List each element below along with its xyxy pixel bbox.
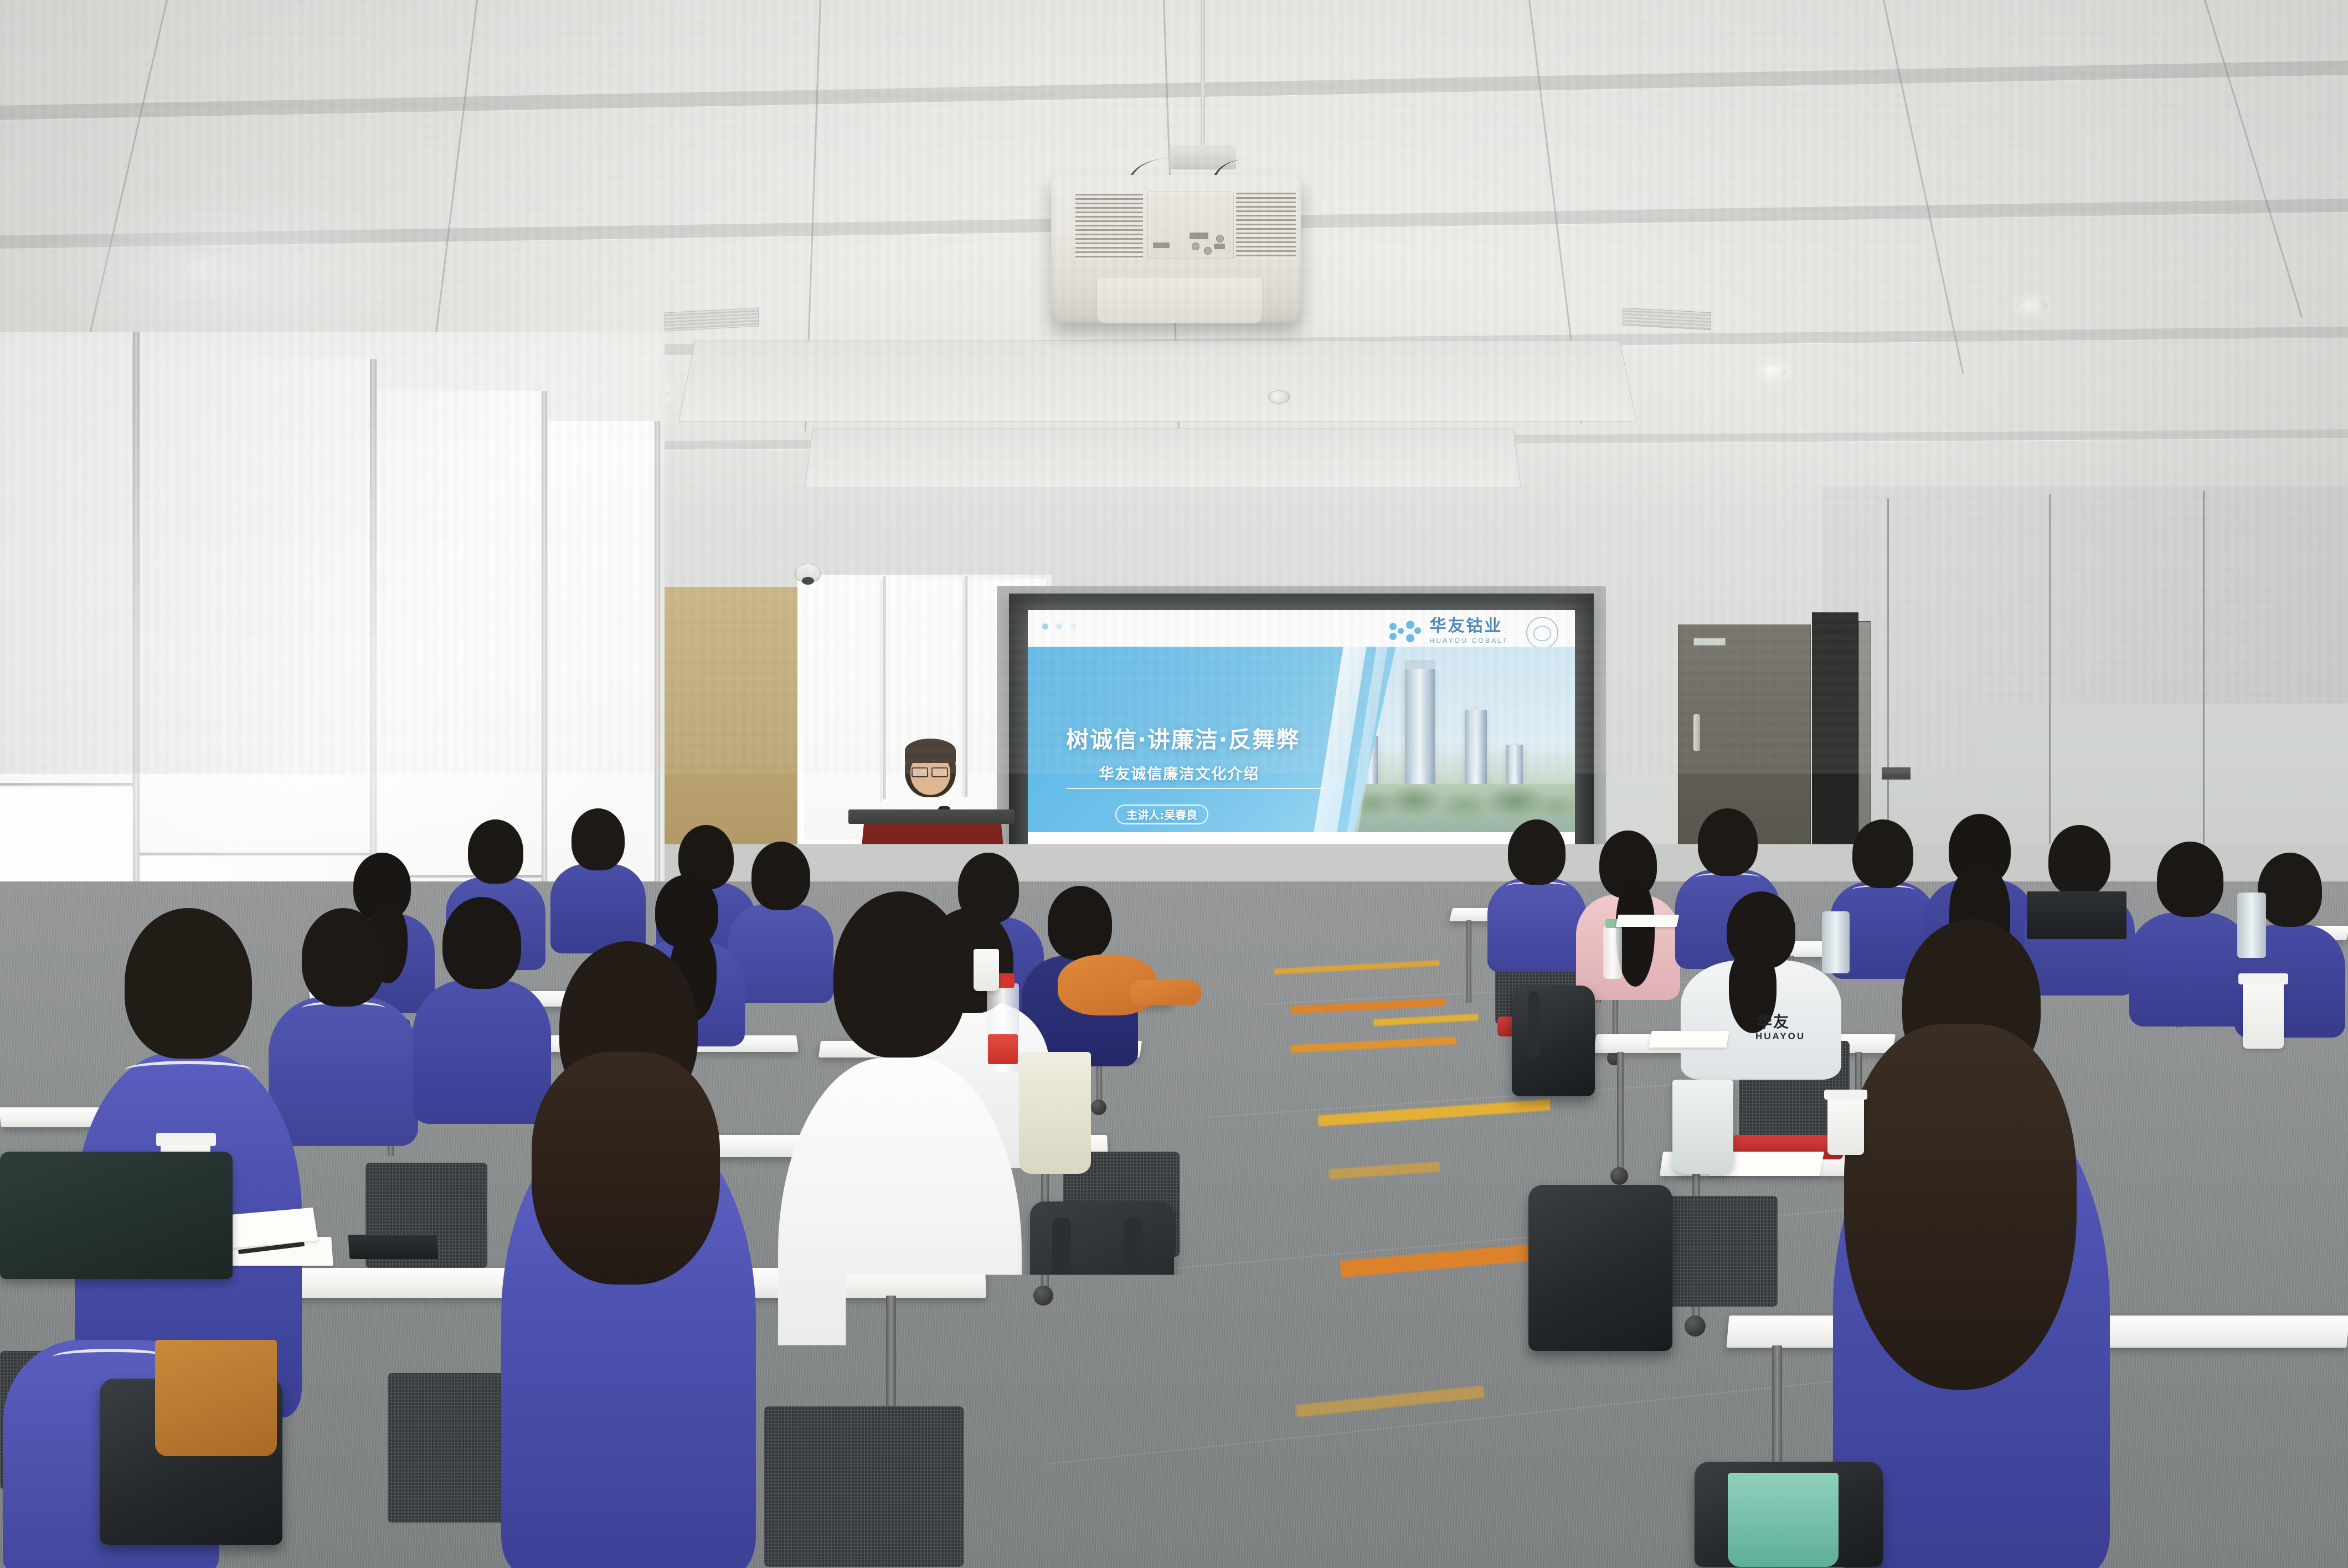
backpack[interactable]: [1512, 986, 1595, 1096]
travel-tumbler[interactable]: [1822, 911, 1850, 973]
plush-toy-limb: [1130, 980, 1202, 1005]
table-leg: [1466, 920, 1471, 1003]
attendee-head: [1852, 819, 1913, 888]
backpack-strap: [1124, 1218, 1143, 1356]
handbag[interactable]: [155, 1340, 277, 1456]
backpack[interactable]: [1030, 1201, 1174, 1423]
notebook[interactable]: [292, 1092, 383, 1106]
roller-blind: [377, 391, 543, 878]
door-handle[interactable]: [1693, 714, 1700, 751]
attendee-hair-long: [532, 1052, 720, 1285]
badge-face-icon: [1533, 626, 1551, 641]
table-caster: [1091, 1100, 1106, 1115]
logo-text-english: HUAYOU COBALT: [1429, 637, 1508, 644]
tote-bag[interactable]: [1019, 1052, 1091, 1174]
bottle-label: [988, 1034, 1018, 1064]
building-tower-cap: [1405, 660, 1435, 669]
paper-cup[interactable]: [974, 949, 999, 991]
backpack[interactable]: [797, 1462, 964, 1568]
paper-cup[interactable]: [1827, 1095, 1864, 1155]
building-tower: [1506, 745, 1523, 784]
jacket-on-table[interactable]: [0, 1152, 233, 1279]
presenter-glasses: [912, 767, 928, 777]
laptop[interactable]: [2027, 891, 2126, 939]
projector-rca-jack: [1216, 235, 1224, 243]
roller-blind: [0, 334, 133, 788]
attendee-head: [2157, 842, 2223, 917]
attendee-torso: [1487, 878, 1586, 972]
slide-divider-rule: [1066, 788, 1323, 789]
cup-lid: [2238, 973, 2288, 984]
slide-speaker-badge: 主讲人:吴春良: [1115, 804, 1208, 824]
projector-lan-port: [1214, 244, 1225, 249]
slide-subtitle: 华友诚信廉洁文化介绍: [1099, 762, 1259, 783]
attendee-head: [2048, 825, 2110, 896]
ceiling-recess: [678, 341, 1636, 422]
collar-piping: [53, 1349, 169, 1365]
projector-vga-port: [1190, 233, 1208, 239]
backpack-strap: [1528, 991, 1539, 1058]
ceiling-recess: [805, 428, 1521, 488]
door-sign: [1693, 638, 1726, 646]
ceiling-downlight: [183, 260, 224, 277]
uniform-back-print-english: HUAYOU: [1755, 1031, 1805, 1042]
attendee-foreground-left: [498, 941, 759, 1567]
slide-body: 树诚信·讲廉洁·反舞弊 华友诚信廉洁文化介绍 主讲人:吴春良: [1028, 647, 1575, 832]
attendee-head: [571, 808, 625, 870]
projector-mount-rod: [1201, 0, 1205, 148]
building-tower: [1465, 710, 1487, 784]
slide-header-dots: [1042, 623, 1076, 630]
uniform-back-print-chinese: 华友: [1757, 1010, 1790, 1032]
handbag[interactable]: [1728, 1473, 1839, 1567]
attendee-head: [1698, 808, 1758, 876]
projector-lens-housing: [1096, 277, 1263, 323]
table-leg: [1617, 1052, 1624, 1174]
travel-tumbler[interactable]: [2237, 893, 2266, 958]
cup-lid: [156, 1133, 216, 1146]
attendee-head: [125, 908, 252, 1059]
backpack-strap: [1052, 1218, 1071, 1356]
attendee-torso-white-shirt: [778, 1058, 1022, 1500]
water-bottle[interactable]: [1603, 926, 1622, 979]
ceiling-downlight: [2016, 299, 2048, 312]
attendee-head: [1048, 886, 1112, 960]
tablet-device[interactable]: [348, 1235, 438, 1259]
projector-vent-grille: [1236, 193, 1296, 259]
presenter-hair: [905, 739, 956, 763]
presenter-glasses: [931, 767, 948, 777]
slide-dot: [1070, 623, 1076, 630]
projector-hdmi-port: [1153, 243, 1170, 248]
building-tower: [1405, 669, 1435, 784]
backpack[interactable]: [1528, 1185, 1672, 1351]
attendee-hair-long: [1844, 1024, 2077, 1390]
table-caster: [1685, 1316, 1706, 1337]
slide-dot: [1042, 623, 1048, 630]
collar-piping: [125, 1061, 252, 1080]
projector-vent-grille: [1075, 194, 1143, 260]
huayou-logo-mark: [1389, 620, 1422, 643]
integrity-badge: [1526, 617, 1558, 649]
slide-main-title: 树诚信·讲廉洁·反舞弊: [1066, 721, 1300, 754]
attendee: [1573, 831, 1683, 997]
blind-bottom-bar: [0, 783, 133, 786]
handbag[interactable]: [1672, 1080, 1733, 1174]
logo-text-chinese: 华友钴业: [1429, 618, 1508, 635]
security-camera-lens: [802, 577, 814, 585]
company-logo: 华友钴业 HUAYOU COBALT: [1389, 618, 1508, 644]
roller-blind: [138, 359, 371, 857]
seminar-room-photo: Panasonic: [0, 0, 2348, 1568]
projector-rca-jack: [1192, 243, 1199, 250]
attendee-head: [1508, 819, 1566, 885]
projector-rca-jack: [1204, 247, 1212, 255]
attendee-head: [2258, 853, 2322, 927]
attendee-head: [468, 819, 523, 884]
partition-wall-plate: [1882, 767, 1911, 780]
cup-lid: [1824, 1090, 1867, 1100]
notebook[interactable]: [1616, 915, 1680, 927]
attendee-head: [833, 891, 966, 1058]
attendee-head: [302, 908, 385, 1007]
ceiling-downlight: [1761, 365, 1786, 376]
table-caster: [1610, 1167, 1628, 1185]
ceiling-speaker: [1268, 390, 1290, 404]
podium-top-surface: [848, 809, 1015, 824]
handout-paper[interactable]: [1649, 1031, 1729, 1048]
slide-dot: [1056, 623, 1062, 630]
paper-cup[interactable]: [2243, 980, 2284, 1049]
